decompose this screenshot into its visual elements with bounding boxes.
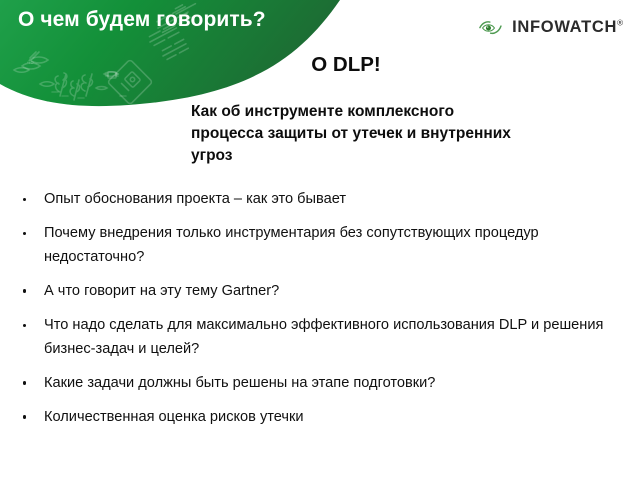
slide-canvas: 45 О чем будем говорить (0, 0, 638, 479)
list-item: Какие задачи должны быть решены на этапе… (16, 372, 616, 396)
banner-title: О чем будем говорить? (18, 6, 268, 34)
list-item: Количественная оценка рисков утечки (16, 406, 616, 430)
list-item: А что говорит на эту тему Gartner? (16, 280, 616, 304)
logo-wordmark-text: INFOWATCH (512, 18, 617, 36)
logo-wordmark: INFOWATCH® (512, 18, 623, 37)
slide-title: О DLP! (191, 53, 501, 77)
registered-mark: ® (617, 19, 623, 28)
infowatch-logo: INFOWATCH® (478, 18, 623, 37)
bullet-list: Опыт обоснования проекта – как это бывае… (16, 188, 616, 440)
list-item: Почему внедрения только инструментария б… (16, 222, 616, 269)
list-item: Что надо сделать для максимально эффекти… (16, 314, 616, 361)
slide-subtitle: Как об инструменте комплексного процесса… (191, 101, 521, 167)
eye-icon (478, 19, 504, 37)
list-item: Опыт обоснования проекта – как это бывае… (16, 188, 616, 212)
svg-text:45: 45 (27, 60, 34, 66)
